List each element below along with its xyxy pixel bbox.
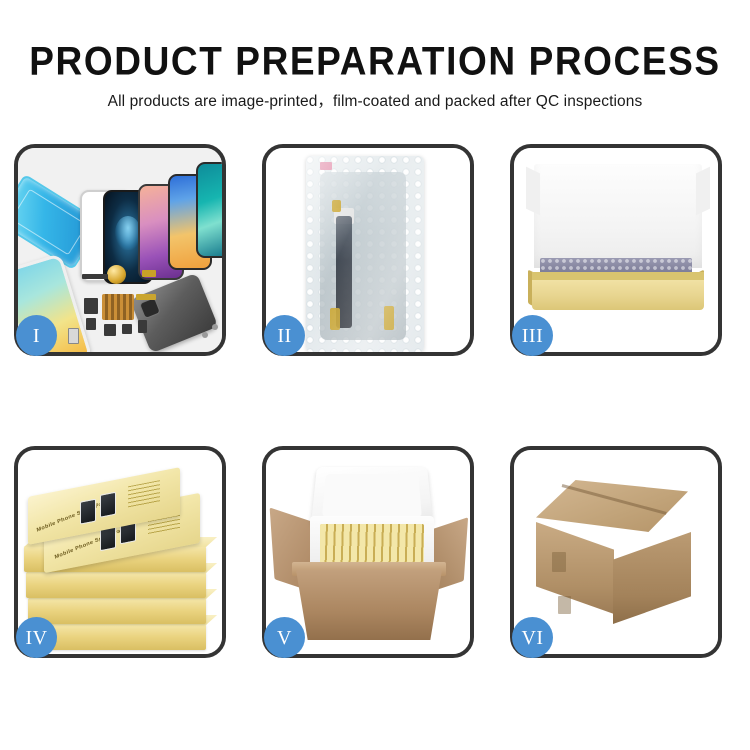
- process-step-2: II: [262, 144, 474, 356]
- small-part-graphic: [136, 294, 156, 300]
- step-badge-3: III: [512, 315, 553, 356]
- bubble-wrap-bag-graphic: [306, 156, 424, 352]
- small-part-graphic: [122, 324, 132, 334]
- carton-left-face-graphic: [536, 522, 614, 614]
- carton-tab-graphic: [558, 596, 571, 614]
- carton-top-face-graphic: [536, 480, 688, 532]
- process-step-3: III: [510, 144, 722, 356]
- small-part-graphic: [86, 318, 96, 330]
- carton-body-graphic: [296, 570, 442, 640]
- process-step-grid: I II: [0, 142, 750, 687]
- foam-sheet-graphic: [534, 164, 702, 268]
- process-step-4: Mobile Phone Spare Parts Mobile Phone Sp…: [14, 446, 226, 658]
- carton-tab-graphic: [552, 552, 566, 572]
- page-title: PRODUCT PREPARATION PROCESS: [0, 0, 750, 84]
- kraft-box-front-graphic: [532, 278, 704, 310]
- box-screen-art: [100, 492, 116, 518]
- teal-phone-graphic: [196, 162, 222, 258]
- phone-housing-graphic: [130, 273, 218, 352]
- step-badge-5: V: [264, 617, 305, 658]
- step-badge-4: IV: [16, 617, 57, 658]
- step-badge-2: II: [264, 315, 305, 356]
- small-part-graphic: [68, 328, 79, 344]
- small-part-graphic: [84, 298, 98, 314]
- small-part-graphic: [82, 274, 108, 279]
- small-part-graphic: [104, 324, 116, 336]
- small-part-graphic: [142, 270, 156, 277]
- product-preparation-infographic: PRODUCT PREPARATION PROCESS All products…: [0, 0, 750, 750]
- header: PRODUCT PREPARATION PROCESS All products…: [0, 0, 750, 111]
- process-step-6: VI: [510, 446, 722, 658]
- screw-graphic: [202, 332, 208, 338]
- carton-right-face-graphic: [613, 532, 691, 624]
- screw-graphic: [212, 324, 218, 330]
- chip-grid-graphic: [102, 294, 134, 320]
- packed-boxes-graphic: [320, 524, 424, 566]
- process-step-1: I: [14, 144, 226, 356]
- box-spec-lines: [128, 480, 160, 508]
- vibration-motor-graphic: [107, 265, 126, 284]
- plastic-gloss-graphic: [306, 156, 424, 352]
- small-part-graphic: [138, 320, 147, 333]
- step-badge-1: I: [16, 315, 57, 356]
- step-badge-6: VI: [512, 617, 553, 658]
- box-screen-art: [80, 499, 96, 525]
- process-step-5: V: [262, 446, 474, 658]
